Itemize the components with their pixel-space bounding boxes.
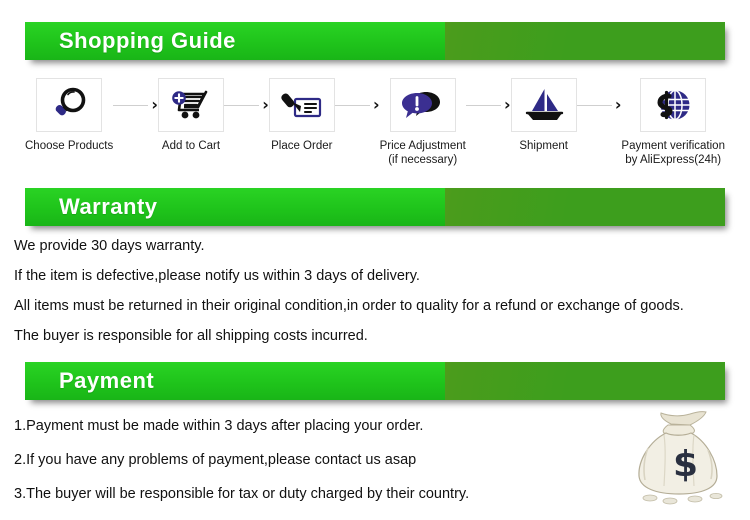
step-arrow-5: › — [577, 78, 622, 132]
shopping-steps-row: Choose Products › Add to Cart › — [25, 78, 725, 170]
add-to-cart-icon — [168, 85, 214, 125]
chevron-right-icon: › — [504, 97, 511, 113]
step-arrow-4: › — [466, 78, 511, 132]
step-label: Payment verification by AliExpress(24h) — [621, 139, 725, 167]
warranty-line: We provide 30 days warranty. — [14, 238, 738, 255]
svg-text:$: $ — [673, 444, 698, 485]
step-label: Choose Products — [25, 139, 113, 153]
section-title-shopping-guide: Shopping Guide — [59, 22, 236, 60]
step-label: Price Adjustment (if necessary) — [380, 139, 466, 167]
section-banner-payment: Payment — [25, 362, 725, 400]
step-label: Add to Cart — [162, 139, 220, 153]
section-banner-warranty: Warranty — [25, 188, 725, 226]
section-title-payment: Payment — [59, 362, 154, 400]
step-arrow-3: › — [335, 78, 380, 132]
step-icon-tile — [511, 78, 577, 132]
step-arrow-1: › — [113, 78, 158, 132]
step-icon-tile — [269, 78, 335, 132]
step-choose-products: Choose Products — [25, 78, 113, 153]
arrow-line — [335, 105, 370, 106]
step-label: Place Order — [271, 139, 332, 153]
step-arrow-2: › — [224, 78, 269, 132]
speech-bubbles-icon — [400, 85, 446, 125]
dollar-globe-icon — [651, 85, 695, 125]
chevron-right-icon: › — [373, 97, 380, 113]
arrow-line — [224, 105, 259, 106]
warranty-line: The buyer is responsible for all shippin… — [14, 328, 738, 345]
chevron-right-icon: › — [615, 97, 622, 113]
pen-check-icon — [279, 85, 325, 125]
arrow-line — [577, 105, 612, 106]
warranty-line: If the item is defective,please notify u… — [14, 268, 738, 285]
step-add-to-cart: Add to Cart — [158, 78, 224, 153]
step-shipment: Shipment — [511, 78, 577, 153]
arrow-line — [113, 105, 148, 106]
section-banner-shopping-guide: Shopping Guide — [25, 22, 725, 60]
section-title-warranty: Warranty — [59, 188, 158, 226]
step-price-adjustment: Price Adjustment (if necessary) — [380, 78, 466, 167]
step-payment-verification: Payment verification by AliExpress(24h) — [621, 78, 725, 167]
magnifier-icon — [47, 85, 91, 125]
warranty-line: All items must be returned in their orig… — [14, 298, 738, 315]
chevron-right-icon: › — [262, 97, 269, 113]
step-place-order: Place Order — [269, 78, 335, 153]
step-icon-tile — [640, 78, 706, 132]
arrow-line — [466, 105, 501, 106]
chevron-right-icon: › — [151, 97, 158, 113]
money-bag-icon: $ — [624, 408, 742, 506]
step-icon-tile — [390, 78, 456, 132]
warranty-text-block: We provide 30 days warranty. If the item… — [14, 238, 738, 358]
sailboat-icon — [521, 85, 567, 125]
step-icon-tile — [36, 78, 102, 132]
step-label: Shipment — [519, 139, 568, 153]
step-icon-tile — [158, 78, 224, 132]
